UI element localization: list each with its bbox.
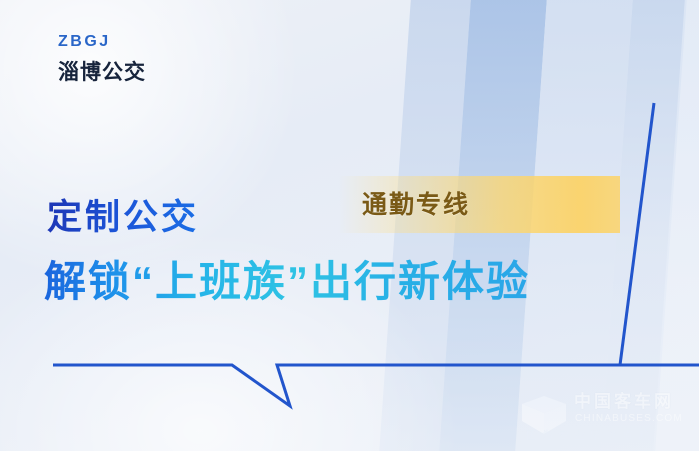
background-band-5 xyxy=(646,0,699,451)
background-band-3 xyxy=(508,0,639,451)
speech-bubble-bottom-path xyxy=(53,365,699,406)
watermark-url: CHINABUSES.COM xyxy=(575,413,683,425)
headline-line-2: 解锁“上班族”出行新体验 xyxy=(44,256,530,309)
watermark-brand-cn: 中国客车网 xyxy=(574,392,674,412)
bus-box-logo-icon xyxy=(520,394,568,436)
poster-canvas: ZBGJ 淄博公交 通勤专线 定制公交 解锁“上班族”出行新体验 中国客车网 C… xyxy=(0,0,699,451)
background-band-2 xyxy=(432,0,553,451)
background-band-4 xyxy=(594,0,693,451)
brand-logo: ZBGJ 淄博公交 xyxy=(58,32,146,85)
brand-abbreviation: ZBGJ xyxy=(58,32,146,51)
background-band-1 xyxy=(372,0,477,451)
tag-label: 通勤专线 xyxy=(362,190,470,220)
brand-name: 淄博公交 xyxy=(58,60,146,85)
headline-line-1: 定制公交 xyxy=(47,196,199,240)
watermark: 中国客车网 CHINABUSES.COM 因为专业所以卓越 xyxy=(520,392,692,446)
watermark-slogan: 因为专业所以卓越 xyxy=(526,430,654,443)
speech-bubble-right-diagonal xyxy=(620,103,654,365)
